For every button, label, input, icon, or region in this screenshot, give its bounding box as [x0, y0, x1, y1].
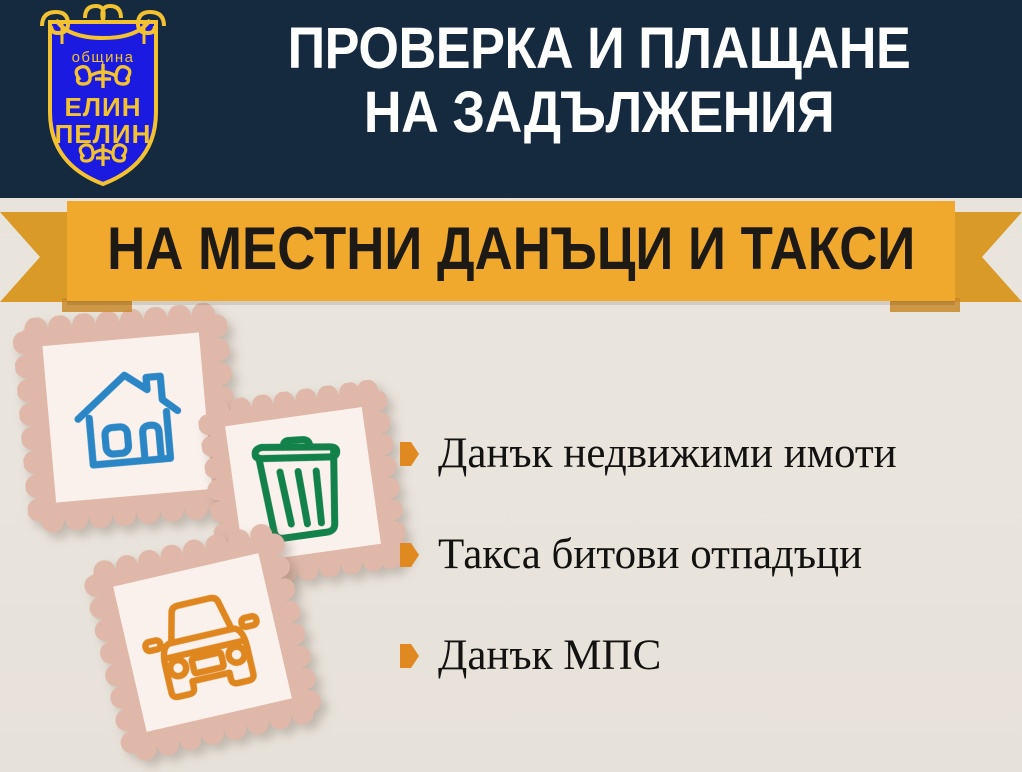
- coat-of-arms: община ЕЛИН ПЕЛИН: [28, 4, 178, 189]
- list-item[interactable]: Такса битови отпадъци: [400, 531, 1010, 579]
- tax-type-list: Данък недвижими имоти Такса битови отпад…: [400, 430, 1010, 733]
- list-item-label: Данък недвижими имоти: [438, 430, 897, 478]
- arrow-bullet-icon: [400, 543, 419, 567]
- arrow-bullet-icon: [400, 442, 419, 466]
- page-title: ПРОВЕРКА И ПЛАЩАНЕ НА ЗАДЪЛЖЕНИЯ: [231, 17, 967, 145]
- stamp-paper: [42, 332, 212, 502]
- ribbon-banner: НА МЕСТНИ ДАНЪЦИ И ТАКСИ: [0, 198, 1022, 308]
- list-item-label: Такса битови отпадъци: [438, 531, 862, 579]
- ribbon-band: НА МЕСТНИ ДАНЪЦИ И ТАКСИ: [67, 201, 955, 301]
- crest-svg: община ЕЛИН ПЕЛИН: [28, 4, 178, 189]
- crest-small-text: община: [72, 49, 135, 66]
- arrow-bullet-icon: [400, 644, 419, 668]
- poster-canvas: ПРОВЕРКА И ПЛАЩАНЕ НА ЗАДЪЛЖЕНИЯ община: [0, 0, 1022, 772]
- crest-line-1: ЕЛИН: [64, 92, 141, 122]
- list-item[interactable]: Данък МПС: [400, 632, 1010, 680]
- list-item[interactable]: Данък недвижими имоти: [400, 430, 1010, 478]
- list-item-label: Данък МПС: [438, 632, 661, 680]
- ribbon-label: НА МЕСТНИ ДАНЪЦИ И ТАКСИ: [107, 219, 915, 283]
